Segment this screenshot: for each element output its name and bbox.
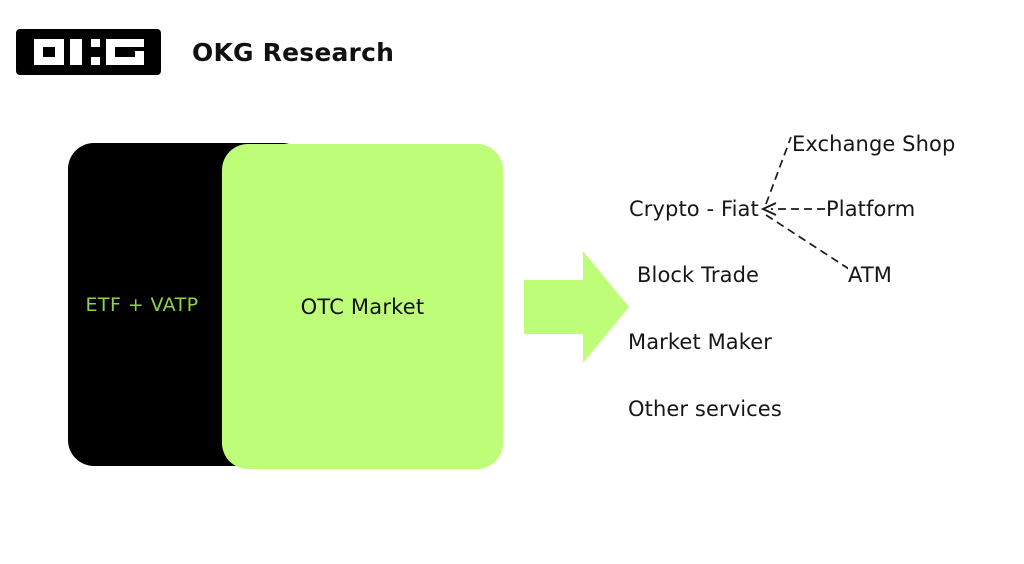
card-otc-market[interactable]: OTC Market xyxy=(222,144,503,469)
connector-crypto-fiat-atm xyxy=(766,215,849,269)
service-label-market-maker[interactable]: Market Maker xyxy=(628,332,772,353)
service-label-other-services[interactable]: Other services xyxy=(628,399,782,420)
card-etf-vatp-label: ETF + VATP xyxy=(86,294,199,316)
service-label-atm[interactable]: ATM xyxy=(848,265,892,286)
diagram-area: ETF + VATP OTC Market Crypto - Fiat Exch… xyxy=(0,0,1024,564)
slide-canvas: OKG Research ETF + VATP OTC Market Crypt… xyxy=(0,0,1024,564)
service-label-block-trade[interactable]: Block Trade xyxy=(637,265,759,286)
card-otc-market-label: OTC Market xyxy=(301,295,425,319)
right-arrow-icon xyxy=(519,249,634,365)
connector-crypto-fiat-exchange-shop xyxy=(766,137,791,204)
service-label-exchange-shop[interactable]: Exchange Shop xyxy=(792,134,955,155)
arrowhead-left-icon xyxy=(763,203,776,215)
service-label-platform[interactable]: Platform xyxy=(826,199,915,220)
service-label-crypto-fiat[interactable]: Crypto - Fiat xyxy=(629,199,759,220)
